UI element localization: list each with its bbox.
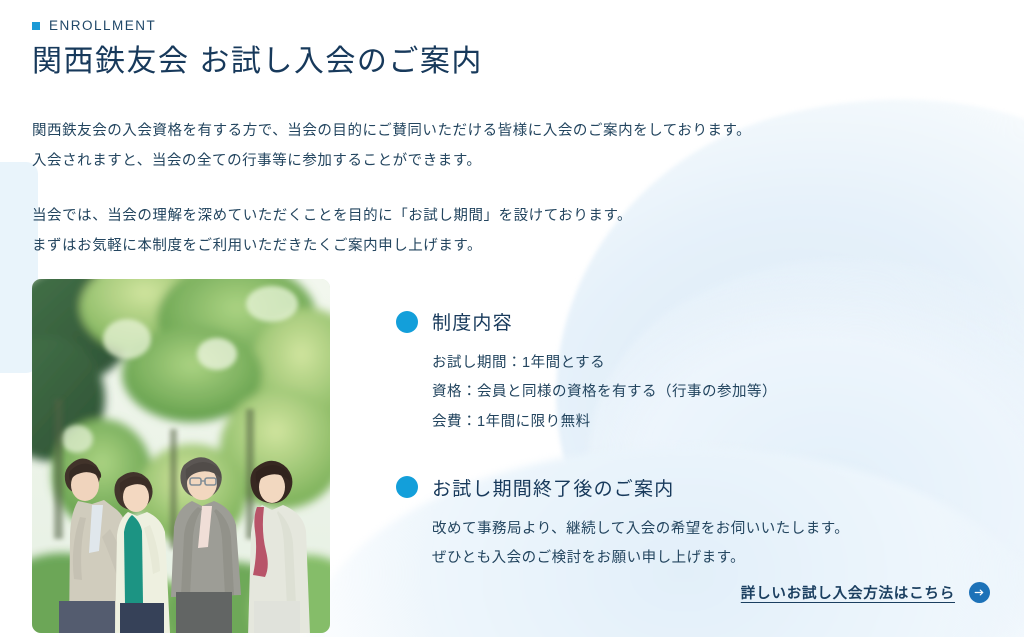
eyebrow: ENROLLMENT <box>32 18 156 33</box>
section-line: 会費：1年間に限り無料 <box>432 408 996 437</box>
square-bullet-icon <box>32 22 40 30</box>
section-heading: 制度内容 <box>396 308 996 335</box>
intro-paragraph-1-line-1: 関西鉄友会の入会資格を有する方で、当会の目的にご賛同いただける皆様に入会のご案内… <box>32 116 732 146</box>
hero-photo <box>32 279 330 633</box>
section-otameshi-shuryogo: お試し期間終了後のご案内 改めて事務局より、継続して入会の希望をお伺いいたします… <box>396 474 996 574</box>
section-seido-naiyo: 制度内容 お試し期間：1年間とする 資格：会員と同様の資格を有する（行事の参加等… <box>396 308 996 437</box>
arrow-right-circle-icon <box>969 582 990 603</box>
bullet-circle-icon <box>396 311 418 333</box>
page-title: 関西鉄友会 お試し入会のご案内 <box>32 42 483 83</box>
section-heading: お試し期間終了後のご案内 <box>396 474 996 501</box>
section-line: ぜひとも入会のご検討をお願い申し上げます。 <box>432 544 996 573</box>
bullet-circle-icon <box>396 476 418 498</box>
section-body: 改めて事務局より、継続して入会の希望をお伺いいたします。 ぜひとも入会のご検討を… <box>432 515 996 574</box>
photo-illustration <box>32 279 330 633</box>
intro-paragraph-2-line-1: 当会では、当会の理解を深めていただくことを目的に「お試し期間」を設けております。 <box>32 201 732 231</box>
intro-text-block: 関西鉄友会の入会資格を有する方で、当会の目的にご賛同いただける皆様に入会のご案内… <box>32 116 732 262</box>
intro-spacer <box>32 177 732 201</box>
detail-link-label: 詳しいお試し入会方法はこちら <box>741 582 955 603</box>
section-line: 改めて事務局より、継続して入会の希望をお伺いいたします。 <box>432 515 996 544</box>
section-title: 制度内容 <box>432 308 513 335</box>
section-line: 資格：会員と同様の資格を有する（行事の参加等） <box>432 378 996 407</box>
enrollment-sections: 制度内容 お試し期間：1年間とする 資格：会員と同様の資格を有する（行事の参加等… <box>396 308 996 573</box>
section-body: お試し期間：1年間とする 資格：会員と同様の資格を有する（行事の参加等） 会費：… <box>432 349 996 437</box>
enrollment-page: ENROLLMENT 関西鉄友会 お試し入会のご案内 関西鉄友会の入会資格を有す… <box>0 0 1024 637</box>
section-title: お試し期間終了後のご案内 <box>432 474 674 501</box>
eyebrow-label: ENROLLMENT <box>49 18 156 33</box>
intro-paragraph-1-line-2: 入会されますと、当会の全ての行事等に参加することができます。 <box>32 146 732 176</box>
intro-paragraph-2-line-2: まずはお気軽に本制度をご利用いただきたくご案内申し上げます。 <box>32 231 732 261</box>
detail-link[interactable]: 詳しいお試し入会方法はこちら <box>741 582 990 603</box>
section-line: お試し期間：1年間とする <box>432 349 996 378</box>
section-spacer <box>396 437 996 474</box>
